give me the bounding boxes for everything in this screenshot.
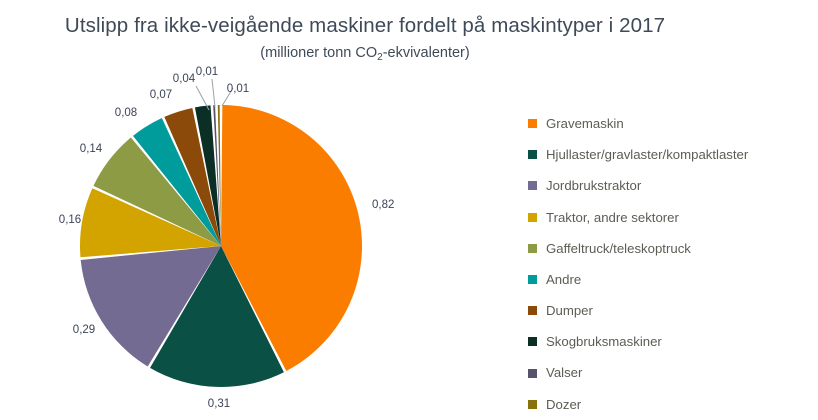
pie-slice-value-label: 0,16: [59, 214, 81, 226]
legend-item-label: Gaffeltruck/teleskoptruck: [546, 242, 691, 255]
pie-slice-value-label: 0,04: [173, 73, 196, 85]
legend-item-label: Valser: [546, 366, 582, 379]
label-leader-line: [212, 79, 215, 107]
legend-color-swatch-icon: [528, 337, 537, 346]
legend-item-label: Andre: [546, 273, 581, 286]
legend-item-label: Gravemaskin: [546, 117, 624, 130]
legend-color-swatch-icon: [528, 119, 537, 128]
legend-color-swatch-icon: [528, 275, 537, 284]
legend-color-swatch-icon: [528, 150, 537, 159]
legend-item-label: Jordbrukstraktor: [546, 179, 641, 192]
pie-chart-figure: Utslipp fra ikke-veigående maskiner ford…: [0, 0, 818, 420]
legend-color-swatch-icon: [528, 213, 537, 222]
legend-color-swatch-icon: [528, 244, 537, 253]
chart-legend: GravemaskinHjullaster/gravlaster/kompakt…: [528, 108, 813, 420]
legend-color-swatch-icon: [528, 306, 537, 315]
pie-slice-value-label: 0,14: [80, 143, 103, 155]
pie-slice-value-label: 0,82: [372, 199, 394, 211]
pie-slice-value-label: 0,01: [227, 83, 249, 95]
legend-item[interactable]: Hjullaster/gravlaster/kompaktlaster: [528, 139, 813, 170]
legend-item[interactable]: Dozer: [528, 389, 813, 420]
legend-item[interactable]: Jordbrukstraktor: [528, 170, 813, 201]
legend-item-label: Dozer: [546, 398, 581, 411]
pie-slice-value-label: 0,07: [150, 89, 172, 101]
legend-color-swatch-icon: [528, 181, 537, 190]
legend-item[interactable]: Gaffeltruck/teleskoptruck: [528, 233, 813, 264]
legend-item-label: Hjullaster/gravlaster/kompaktlaster: [546, 148, 748, 161]
legend-color-swatch-icon: [528, 369, 537, 378]
legend-item-label: Skogbruksmaskiner: [546, 335, 662, 348]
pie-slice-value-label: 0,31: [208, 398, 230, 410]
legend-item-label: Traktor, andre sektorer: [546, 211, 679, 224]
legend-item[interactable]: Traktor, andre sektorer: [528, 202, 813, 233]
legend-item[interactable]: Skogbruksmaskiner: [528, 326, 813, 357]
pie-slice-value-label: 0,01: [196, 66, 218, 78]
legend-item[interactable]: Andre: [528, 264, 813, 295]
pie-slice-value-label: 0,08: [115, 107, 137, 119]
legend-item[interactable]: Gravemaskin: [528, 108, 813, 139]
pie-slice-value-label: 0,29: [73, 324, 95, 336]
legend-item[interactable]: Dumper: [528, 295, 813, 326]
legend-color-swatch-icon: [528, 400, 537, 409]
legend-item[interactable]: Valser: [528, 358, 813, 389]
legend-item-label: Dumper: [546, 304, 593, 317]
pie-slice-group: [80, 105, 362, 387]
